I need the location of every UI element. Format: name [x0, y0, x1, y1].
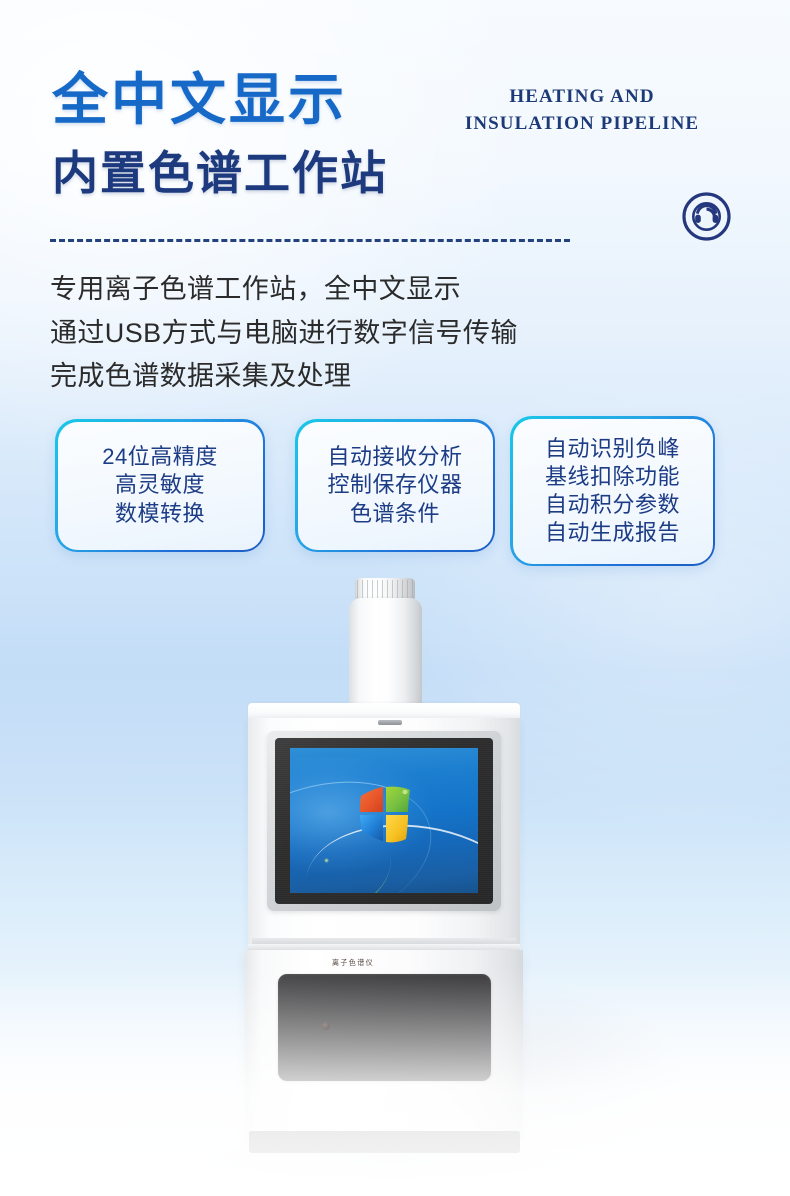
feature-card-list: 24位高精度 高灵敏度 数模转换 自动接收分析 控制保存仪器 色谱条件 自动识别… [55, 419, 735, 569]
device-upper-chassis [248, 718, 520, 946]
windows-logo-icon [356, 784, 414, 846]
feature-line: 自动识别负峰 [545, 435, 680, 463]
device-upper-vent-slot [378, 720, 402, 725]
page-title-line2: 内置色谱工作站 [52, 150, 532, 196]
feature-card-acquisition[interactable]: 自动接收分析 控制保存仪器 色谱条件 [295, 419, 495, 552]
feature-line: 高灵敏度 [115, 471, 205, 499]
device-floor-shadow [200, 1140, 580, 1188]
description-line-1: 专用离子色谱工作站，全中文显示 [50, 268, 670, 312]
page-title-line1: 全中文显示 [52, 72, 532, 128]
feature-card-body: 24位高精度 高灵敏度 数模转换 [58, 422, 263, 550]
device-front-label: 离子色谱仪 [318, 958, 388, 969]
device-door-knob [322, 1022, 330, 1030]
device-base-plinth [249, 1131, 520, 1153]
device-upper-top-panel [248, 703, 520, 719]
screen-glow [290, 757, 433, 873]
screen-light-arc [290, 757, 449, 893]
description-line-3: 完成色谱数据采集及处理 [50, 355, 670, 399]
dashed-divider [50, 239, 570, 242]
feature-card-processing[interactable]: 自动识别负峰 基线扣除功能 自动积分参数 自动生成报告 [510, 416, 715, 566]
description-block: 专用离子色谱工作站，全中文显示 通过USB方式与电脑进行数字信号传输 完成色谱数… [50, 268, 670, 399]
device-screen [290, 748, 478, 893]
feature-card-body: 自动识别负峰 基线扣除功能 自动积分参数 自动生成报告 [513, 419, 713, 564]
feature-line: 自动生成报告 [545, 519, 680, 547]
device-monitor-bezel [275, 738, 493, 904]
feature-card-body: 自动接收分析 控制保存仪器 色谱条件 [298, 422, 493, 550]
product-feature-page: HEATING AND INSULATION PIPELINE 全中文显示 内置… [0, 0, 790, 1196]
device-column-cap [355, 578, 415, 600]
feature-line: 基线扣除功能 [545, 463, 680, 491]
feature-line: 自动积分参数 [545, 491, 680, 519]
description-line-2: 通过USB方式与电脑进行数字信号传输 [50, 312, 670, 356]
feature-line: 控制保存仪器 [327, 471, 462, 499]
feature-card-precision[interactable]: 24位高精度 高灵敏度 数模转换 [55, 419, 265, 552]
screen-white-arc [296, 810, 478, 893]
page-title: 全中文显示 内置色谱工作站 [52, 72, 532, 196]
feature-line: 色谱条件 [350, 500, 440, 528]
device-column-cap-ribs [357, 580, 413, 598]
device-side-shadow [508, 980, 688, 1150]
feature-line: 自动接收分析 [327, 443, 462, 471]
device-lower-chassis [245, 950, 523, 1140]
screen-green-arc [290, 805, 396, 893]
device-column-body [349, 598, 422, 714]
background-bottom-fade [0, 966, 790, 1196]
feature-line: 24位高精度 [102, 443, 217, 471]
feature-line: 数模转换 [115, 500, 205, 528]
device-lower-lip [252, 938, 516, 945]
screen-sparkle [324, 858, 329, 863]
device-lower-lip-secondary [248, 944, 520, 950]
device-front-door [278, 974, 491, 1081]
headset-circle-icon [681, 191, 732, 242]
device-monitor-frame [267, 731, 501, 911]
